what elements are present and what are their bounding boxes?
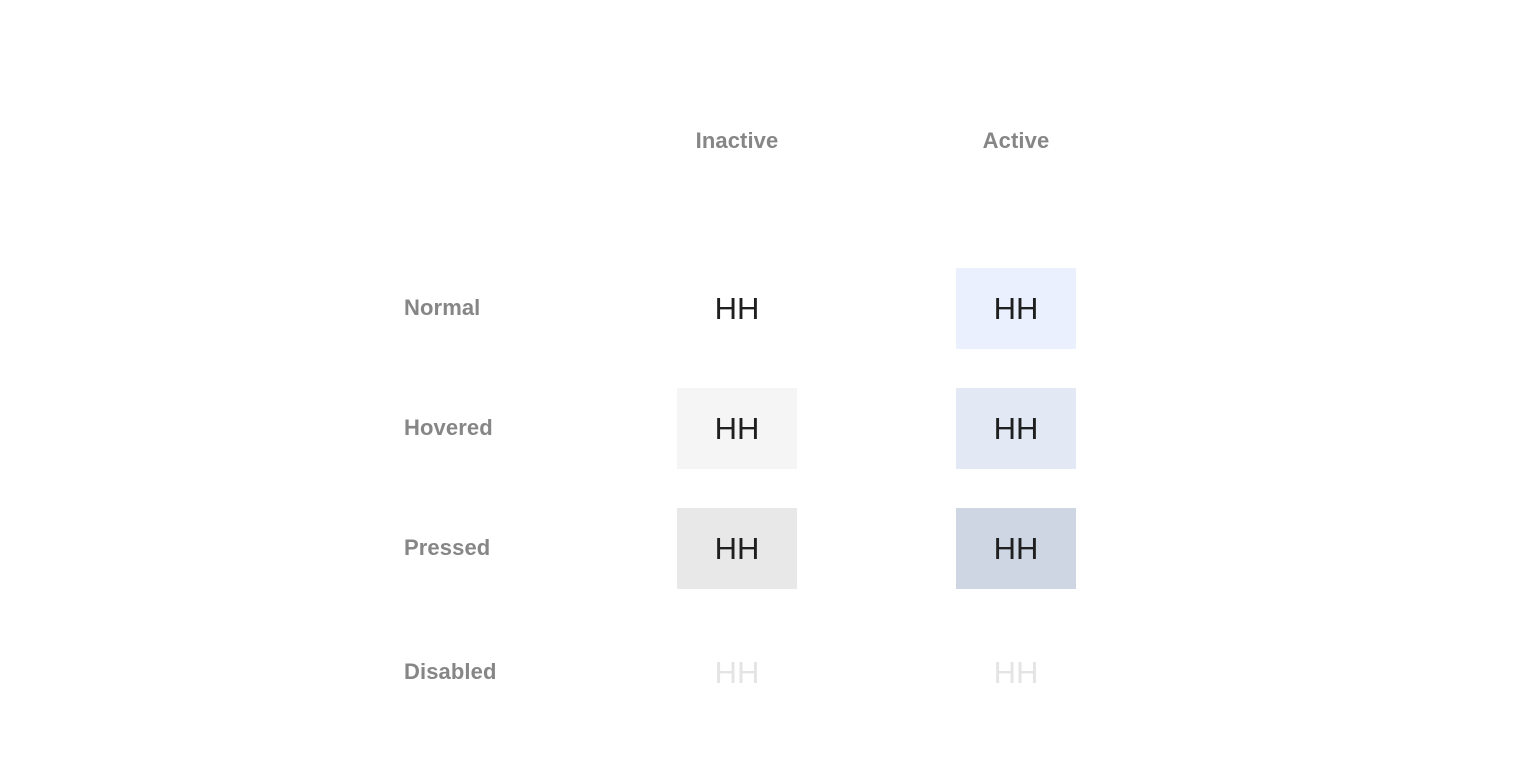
sample-text-hovered-inactive: HH [715, 413, 760, 444]
sample-text-disabled-active: HH [994, 657, 1039, 688]
row-label-pressed: Pressed [404, 535, 677, 561]
row-label-disabled: Disabled [404, 659, 677, 685]
row-label-normal: Normal [404, 295, 677, 321]
row-label-hovered: Hovered [404, 415, 677, 441]
sample-text-normal-inactive: HH [715, 293, 760, 324]
cell-normal-active[interactable]: HH [956, 268, 1076, 349]
cell-hovered-active[interactable]: HH [956, 388, 1076, 469]
cell-normal-inactive[interactable]: HH [677, 268, 797, 349]
sample-text-pressed-active: HH [994, 533, 1039, 564]
sample-text-hovered-active: HH [994, 413, 1039, 444]
cell-hovered-inactive[interactable]: HH [677, 388, 797, 469]
sample-text-pressed-inactive: HH [715, 533, 760, 564]
state-matrix-grid: Inactive Active Normal HH HH Hovered HH … [404, 118, 1076, 736]
column-header-active: Active [956, 118, 1076, 163]
cell-pressed-inactive[interactable]: HH [677, 508, 797, 589]
cell-disabled-active: HH [956, 632, 1076, 713]
state-matrix: Inactive Active Normal HH HH Hovered HH … [0, 0, 1520, 780]
cell-disabled-inactive: HH [677, 632, 797, 713]
sample-text-normal-active: HH [994, 293, 1039, 324]
column-header-inactive: Inactive [677, 118, 797, 163]
cell-pressed-active[interactable]: HH [956, 508, 1076, 589]
sample-text-disabled-inactive: HH [715, 657, 760, 688]
